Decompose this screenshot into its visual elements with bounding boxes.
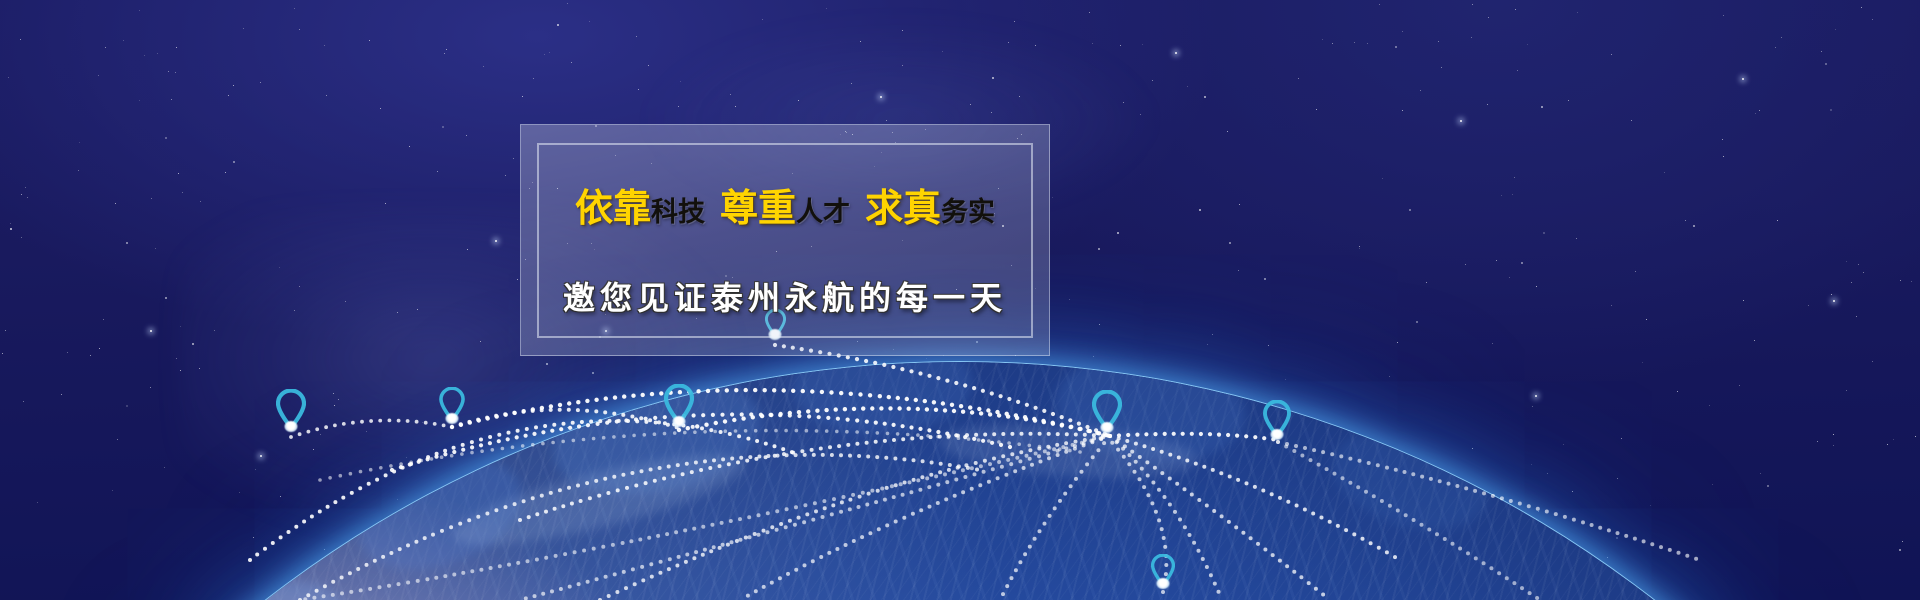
map-pin-7-glow-dot bbox=[1157, 578, 1170, 589]
headline-part1-black: 科技 bbox=[651, 197, 705, 228]
headline-slogan: 依靠科技尊重人才求真务实 bbox=[521, 189, 1049, 227]
map-pin-1[interactable] bbox=[276, 389, 306, 429]
headline-part2-black: 人才 bbox=[796, 197, 850, 228]
map-pin-6-glow-dot bbox=[1271, 429, 1284, 440]
glass-frame-panel: 依靠科技尊重人才求真务实 邀您见证泰州永航的每一天 bbox=[520, 124, 1050, 356]
headline-part3-yellow: 求真 bbox=[865, 185, 941, 230]
headline-part2-yellow: 尊重 bbox=[720, 185, 796, 230]
map-pin-5-glow-dot bbox=[1101, 422, 1114, 433]
map-pin-3-glow-dot bbox=[673, 416, 686, 427]
banner-stage: 依靠科技尊重人才求真务实 邀您见证泰州永航的每一天 bbox=[0, 0, 1920, 600]
map-pin-6[interactable] bbox=[1263, 400, 1291, 437]
map-pin-1-glow-dot bbox=[285, 421, 298, 432]
map-pin-5[interactable] bbox=[1092, 390, 1122, 430]
headline-part3-black: 务实 bbox=[941, 197, 995, 228]
subline-slogan: 邀您见证泰州永航的每一天 bbox=[521, 273, 1049, 319]
map-pin-2[interactable] bbox=[439, 387, 465, 421]
map-pin-7[interactable] bbox=[1151, 554, 1175, 586]
map-pin-2-glow-dot bbox=[446, 413, 459, 424]
headline-part1-yellow: 依靠 bbox=[575, 185, 651, 230]
map-pin-3[interactable] bbox=[664, 384, 694, 424]
